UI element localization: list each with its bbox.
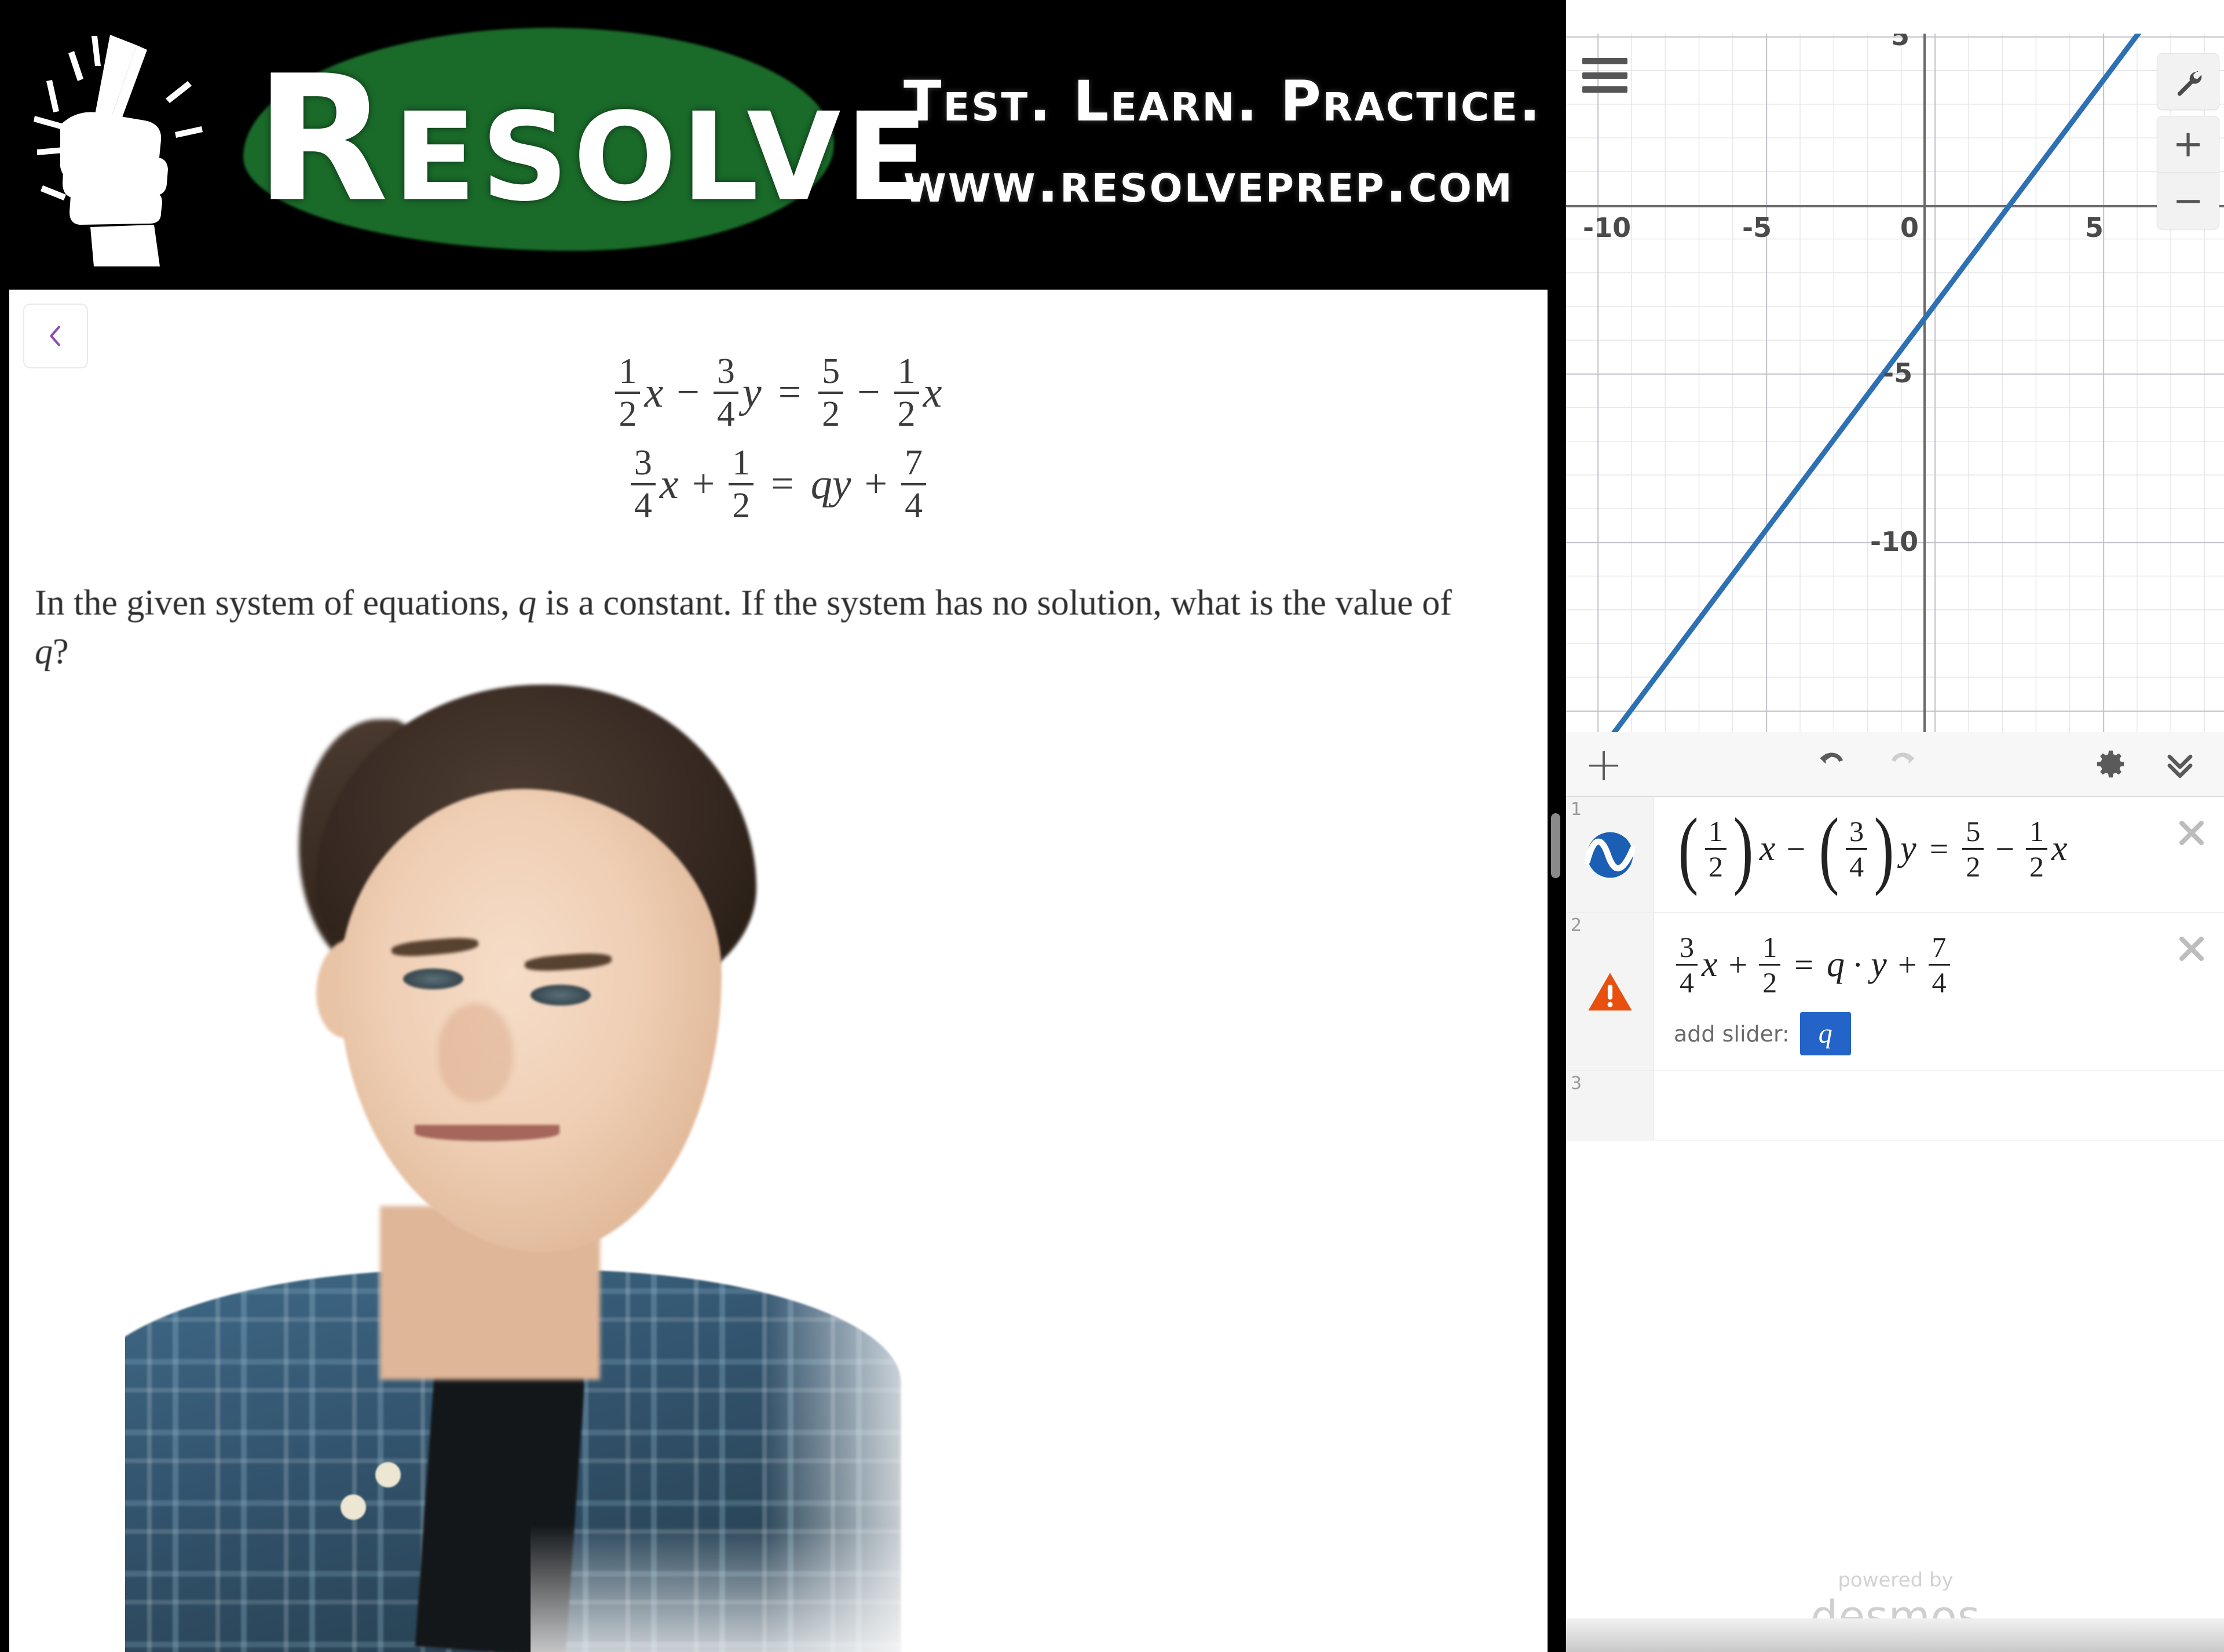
expression-input[interactable]: ( 1 2 ) x − ( 3 4 ) — [1654, 797, 2224, 912]
zoom-out-button[interactable]: − — [2157, 173, 2219, 229]
question-prompt: In the given system of equations, q is a… — [35, 579, 1494, 676]
brand-taglines: Test. Learn. Practice. Repeat. www.resol… — [904, 35, 1529, 249]
expr1-var-x: x — [1760, 828, 1776, 869]
y-tick-label-neg5: -5 — [1883, 357, 1912, 389]
brand-banner: Resolve Test. Learn. Practice. Repeat. w… — [0, 0, 1548, 280]
watermark-powered-by: powered by — [1566, 1569, 2224, 1592]
graph-canvas[interactable]: -10 -5 0 5 10 10 5 -5 -10 + — [1566, 34, 2224, 732]
gear-icon — [2093, 746, 2128, 782]
undo-arrow-icon — [1815, 746, 1850, 782]
expression-index: 1 — [1571, 799, 1582, 820]
expr1-var-x-2: x — [2051, 828, 2068, 869]
equation-row-2: 3 4 x + 1 2 = qy + 7 4 — [628, 445, 928, 524]
expr2-operator-plus-2: + — [1898, 945, 1917, 984]
expression-row[interactable]: 3 — [1566, 1071, 2224, 1141]
portrait-shirt-button-1 — [375, 1462, 401, 1487]
hamburger-menu-icon[interactable] — [1582, 58, 1627, 93]
add-expression-button[interactable]: + — [1566, 732, 1641, 796]
question-variable-q1: q — [518, 583, 536, 623]
equals-sign-2: = — [771, 461, 793, 507]
tagline-slogan: Test. Learn. Practice. Repeat. — [904, 69, 1529, 134]
x-tick-label-neg10: -10 — [1583, 212, 1631, 243]
chevron-double-down-icon — [2162, 746, 2198, 782]
equation-row-1: 1 2 x − 3 4 y = 5 2 − 1 2 — [613, 353, 943, 432]
operator-minus: − — [676, 370, 699, 416]
portrait-brow-left — [391, 936, 479, 959]
operator-minus-2: − — [857, 370, 880, 416]
expression-list: 1 ( 1 2 ) — [1566, 797, 2224, 1652]
panel-resize-handle[interactable] — [1551, 813, 1560, 878]
fraction-one-half-3: 1 2 — [729, 445, 753, 524]
portrait-hair-side — [299, 719, 432, 974]
graph-settings-button[interactable] — [2157, 53, 2219, 110]
expr1-fraction-three-fourths: 3 4 — [1846, 817, 1867, 881]
right-paren-2: ) — [1874, 822, 1894, 876]
redo-arrow-icon — [1884, 746, 1920, 782]
portrait-plaid-shirt — [125, 1270, 901, 1652]
portrait-face — [339, 789, 722, 1252]
operator-plus: + — [692, 461, 715, 507]
fraction-three-fourths-2: 3 4 — [631, 445, 656, 524]
term-qy: qy — [811, 460, 851, 509]
expr2-equals: = — [1794, 945, 1813, 984]
expr1-operator-minus-2: − — [1995, 829, 2014, 868]
expr1-fraction-one-half: 1 2 — [1705, 817, 1726, 881]
expression-index: 2 — [1571, 915, 1582, 935]
fist-holding-pencil-icon — [23, 12, 214, 266]
expr1-operator-minus: − — [1786, 829, 1805, 868]
screen-root: Resolve Test. Learn. Practice. Repeat. w… — [0, 0, 2224, 1652]
expr1-var-y: y — [1900, 828, 1916, 869]
expr2-var-q: q — [1827, 944, 1845, 985]
portrait-eye-left — [403, 968, 463, 989]
warning-triangle-icon[interactable] — [1585, 967, 1635, 1017]
expression-index: 3 — [1571, 1073, 1582, 1094]
operator-plus-2: + — [865, 461, 887, 507]
system-of-equations: 1 2 x − 3 4 y = 5 2 − 1 2 — [9, 353, 1548, 524]
close-icon — [2175, 816, 2208, 850]
x-tick-label-neg5: -5 — [1742, 212, 1772, 243]
portrait-nose — [438, 1003, 513, 1102]
expr2-multiply-dot: · — [1852, 945, 1863, 984]
zoom-controls: + − — [2157, 116, 2219, 229]
portrait-brow-right — [524, 952, 612, 973]
question-text-part2: is a constant. If the system has no solu… — [536, 583, 1452, 623]
add-slider-label: add slider: — [1674, 1021, 1790, 1047]
portrait-eye-right — [531, 985, 591, 1006]
menu-bar-1 — [1582, 58, 1627, 64]
variable-y: y — [742, 368, 762, 418]
delete-expression-button[interactable] — [2173, 930, 2210, 967]
left-paren-1: ( — [1678, 822, 1698, 876]
portrait-neck — [380, 1206, 600, 1380]
expression-math-1: ( 1 2 ) x − ( 3 4 ) — [1674, 817, 2161, 881]
expr2-operator-plus: + — [1729, 945, 1748, 984]
expression-gutter: 1 — [1566, 797, 1654, 912]
question-panel: 1 2 x − 3 4 y = 5 2 − 1 2 — [9, 290, 1548, 1652]
expr2-fraction-seven-fourths: 7 4 — [1929, 933, 1950, 997]
portrait-bottom-fade — [531, 1525, 994, 1652]
expr2-var-x: x — [1702, 944, 1718, 985]
question-text-part3: ? — [53, 632, 69, 671]
fraction-one-half: 1 2 — [615, 353, 640, 432]
x-tick-label-0: 0 — [1900, 212, 1919, 243]
expression-math-2: 3 4 x + 1 2 = q · y + — [1674, 933, 2161, 997]
equals-sign: = — [778, 370, 801, 416]
question-variable-q2: q — [35, 632, 53, 671]
brand-wordmark: Resolve — [255, 23, 851, 255]
desmos-bottom-bar — [1566, 1618, 2224, 1652]
portrait-black-tshirt — [415, 1323, 588, 1652]
fraction-five-halves: 5 2 — [818, 353, 843, 432]
instructor-portrait — [125, 667, 994, 1652]
expr2-var-y: y — [1871, 944, 1887, 985]
close-icon — [2175, 932, 2208, 966]
expr1-equals: = — [1930, 829, 1949, 868]
fraction-seven-fourths: 7 4 — [901, 445, 926, 524]
desmos-calculator-panel: -10 -5 0 5 10 10 5 -5 -10 + — [1565, 0, 2224, 1652]
fraction-three-fourths: 3 4 — [714, 353, 738, 432]
settings-gear-button[interactable] — [2076, 732, 2145, 796]
left-paren-2: ( — [1819, 822, 1839, 876]
portrait-ear — [316, 940, 380, 1038]
expression-row[interactable]: 1 ( 1 2 ) — [1566, 797, 2224, 913]
variable-x: x — [644, 368, 663, 418]
zoom-in-button[interactable]: + — [2157, 116, 2219, 173]
x-tick-label-5: 5 — [2085, 212, 2104, 243]
wrench-icon — [2172, 65, 2204, 98]
graph-tools-group: + − — [2157, 53, 2219, 229]
variable-x-2: x — [923, 368, 942, 418]
portrait-edge-fade — [670, 1073, 994, 1652]
portrait-shirt-button-2 — [341, 1494, 366, 1520]
redo-button[interactable] — [1867, 732, 1937, 796]
tagline-website: www.resolveprep.com — [904, 150, 1529, 215]
delete-expression-button[interactable] — [2173, 814, 2210, 851]
question-text-part1: In the given system of equations, — [35, 583, 518, 623]
collapse-panel-button[interactable] — [2145, 732, 2215, 796]
menu-bar-2 — [1582, 72, 1627, 79]
expression-input[interactable]: 3 4 x + 1 2 = q · y + — [1654, 913, 2224, 1070]
sine-wave-graph-toggle-icon[interactable] — [1585, 830, 1635, 880]
y-tick-label-5: 5 — [1891, 34, 1910, 52]
expr1-fraction-five-halves: 5 2 — [1962, 817, 1984, 881]
expr2-fraction-one-half: 1 2 — [1759, 933, 1780, 997]
y-tick-label-neg10: -10 — [1870, 526, 1918, 557]
portrait-mouth — [415, 1125, 559, 1141]
expr1-fraction-one-half-2: 1 2 — [2026, 817, 2047, 881]
expression-gutter: 3 — [1566, 1071, 1654, 1140]
menu-bar-3 — [1582, 86, 1627, 93]
expression-row[interactable]: 2 3 4 x — [1566, 913, 2224, 1071]
expr2-fraction-three-fourths: 3 4 — [1676, 933, 1698, 997]
undo-button[interactable] — [1798, 732, 1867, 796]
fraction-one-half-2: 1 2 — [894, 353, 919, 432]
add-slider-row: add slider: q — [1674, 1012, 2161, 1055]
chevron-left-icon — [42, 323, 69, 349]
right-paren-1: ) — [1733, 822, 1753, 876]
add-slider-q-button[interactable]: q — [1800, 1012, 1851, 1055]
expression-toolbar: + — [1566, 732, 2224, 797]
expression-gutter: 2 — [1566, 913, 1654, 1070]
variable-x-3: x — [660, 460, 679, 509]
warning-triangle-glyph — [1586, 968, 1634, 1015]
expression-input[interactable] — [1654, 1071, 2224, 1140]
portrait-hair — [316, 685, 756, 1009]
sine-wave-glyph — [1585, 830, 1635, 880]
